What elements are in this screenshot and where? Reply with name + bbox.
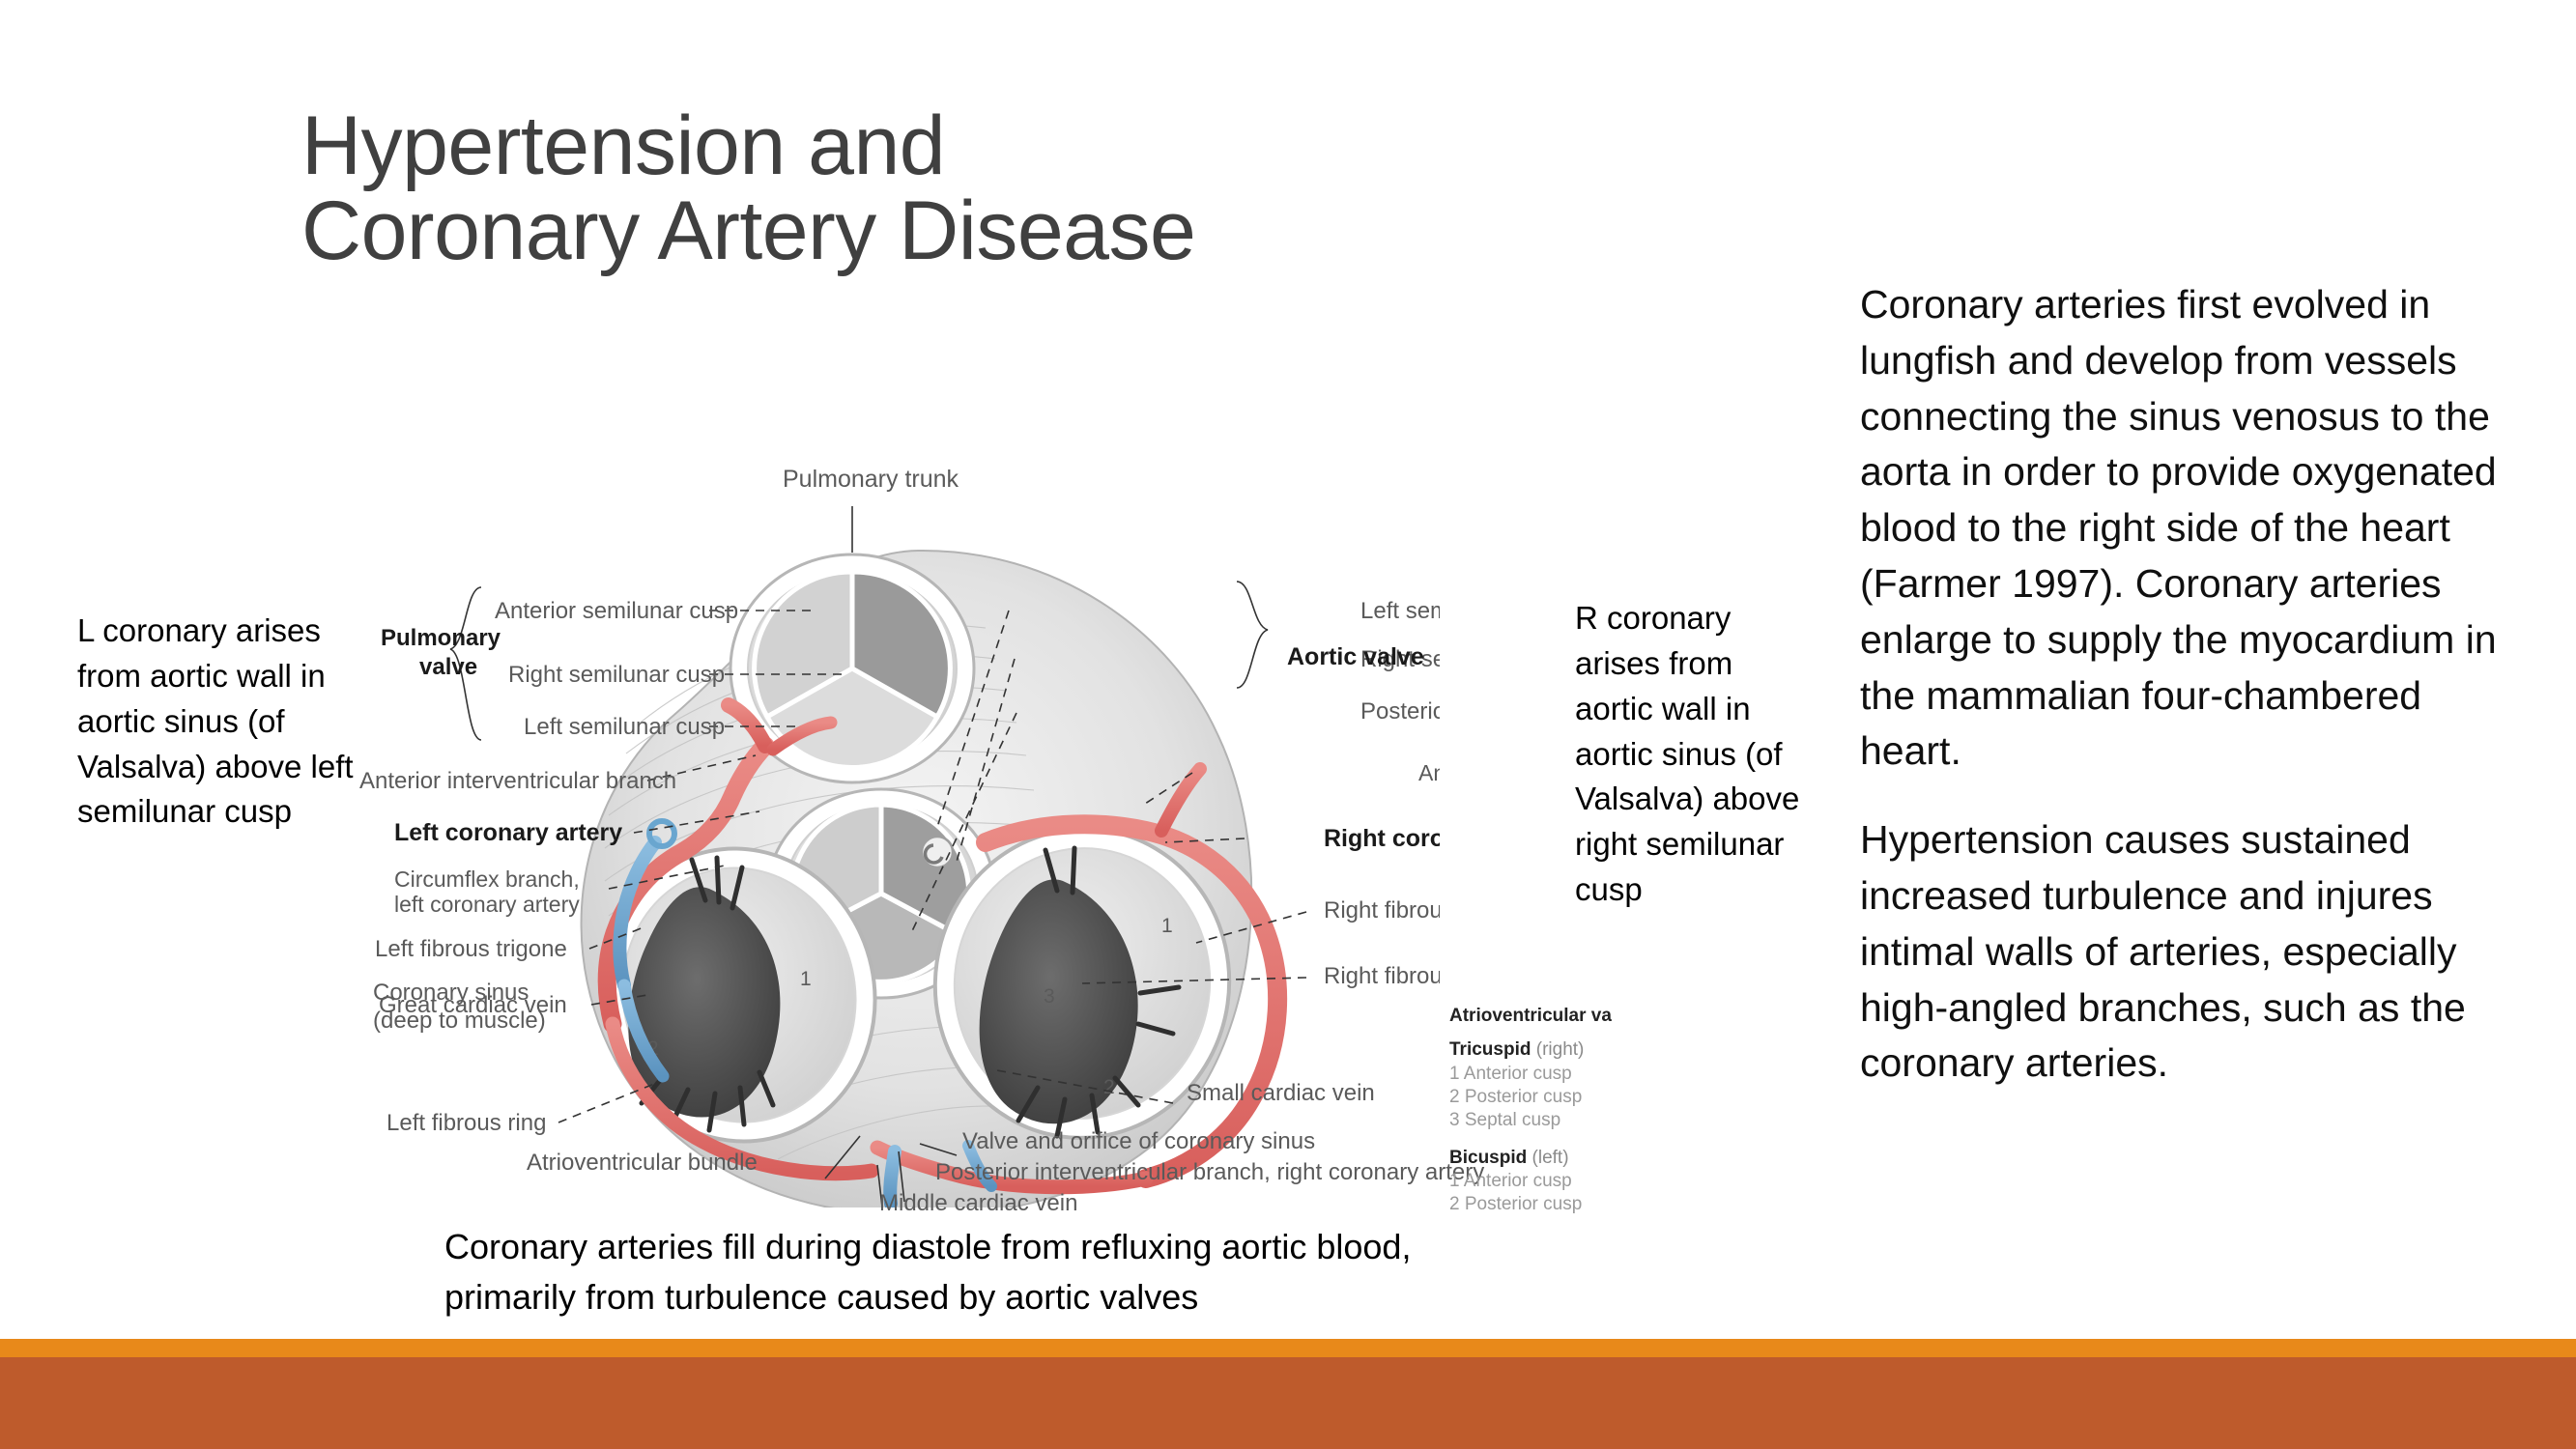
label-av-posterior-cusp: Posterior semilunar cusp bbox=[1360, 698, 1440, 724]
label-small-cardiac-vein: Small cardiac vein bbox=[1187, 1080, 1375, 1107]
legend-group-tricuspid: Tricuspid (right) 1 Anterior cusp 2 Post… bbox=[1449, 1038, 1739, 1132]
label-circumflex-branch-line1: Circumflex branch, bbox=[394, 867, 580, 892]
label-av-left-cusp: Left semilunar cusp bbox=[1360, 598, 1440, 624]
label-pulmonary-valve-line1: Pulmonary bbox=[381, 625, 501, 651]
body-paragraph-2: Hypertension causes sustained increased … bbox=[1860, 812, 2527, 1092]
legend-group-title-bicuspid: Bicuspid (left) bbox=[1449, 1147, 1739, 1170]
label-pv-anterior-cusp: Anterior semilunar cusp bbox=[495, 598, 738, 624]
presentation-slide: Hypertension and Coronary Artery Disease… bbox=[0, 0, 2576, 1449]
atrioventricular-valve-legend: Atrioventricular va Tricuspid (right) 1 … bbox=[1449, 1005, 1739, 1231]
cusp-number-3-right: 3 bbox=[1044, 985, 1055, 1008]
footer-accent-stripe bbox=[0, 1339, 2576, 1357]
legend-item: 2 Posterior cusp bbox=[1449, 1086, 1739, 1109]
legend-group-bicuspid: Bicuspid (left) 1 Anterior cusp 2 Poster… bbox=[1449, 1147, 1739, 1217]
legend-item: 3 Septal cusp bbox=[1449, 1109, 1739, 1132]
legend-header: Atrioventricular va bbox=[1449, 1005, 1739, 1028]
legend-item: 2 Posterior cusp bbox=[1449, 1193, 1739, 1216]
cusp-number-1-right: 1 bbox=[1161, 915, 1173, 937]
label-right-fibrous-trigone: Right fibrous trigone bbox=[1324, 963, 1440, 989]
label-anterior-cardiac-branch: Anterior cardiac branch, right coronary … bbox=[1418, 760, 1440, 785]
body-paragraph-1: Coronary arteries first evolved in lungf… bbox=[1860, 277, 2527, 780]
label-pulmonary-valve-line2: valve bbox=[419, 654, 477, 680]
label-left-fibrous-trigone: Left fibrous trigone bbox=[375, 936, 567, 962]
cusp-number-2-right: 2 bbox=[1103, 1076, 1115, 1098]
label-right-coronary-artery: Right coronary artery bbox=[1324, 825, 1440, 852]
label-middle-cardiac-vein: Middle cardiac vein bbox=[879, 1190, 1077, 1217]
cusp-number-1-left: 1 bbox=[800, 968, 812, 990]
label-pulmonary-trunk: Pulmonary trunk bbox=[783, 466, 959, 493]
legend-item: 1 Anterior cusp bbox=[1449, 1170, 1739, 1193]
label-pv-right-cusp: Right semilunar cusp bbox=[508, 662, 725, 688]
body-text-column: Coronary arteries first evolved in lungf… bbox=[1860, 277, 2527, 1092]
label-valve-orifice-coronary-sinus: Valve and orifice of coronary sinus bbox=[962, 1128, 1315, 1155]
legend-group-title-tricuspid: Tricuspid (right) bbox=[1449, 1038, 1739, 1062]
label-left-fibrous-ring: Left fibrous ring bbox=[386, 1110, 546, 1136]
label-right-fibrous-ring: Right fibrous ring bbox=[1324, 897, 1440, 923]
label-aortic-valve: Aortic valve bbox=[1287, 643, 1424, 670]
label-left-coronary-artery: Left coronary artery bbox=[394, 819, 622, 846]
label-circumflex-branch-line2: left coronary artery bbox=[394, 892, 580, 917]
label-pv-left-cusp: Left semilunar cusp bbox=[524, 714, 725, 740]
legend-item: 1 Anterior cusp bbox=[1449, 1063, 1739, 1086]
page-title: Hypertension and Coronary Artery Disease bbox=[301, 104, 1674, 273]
label-coronary-sinus: Coronary sinus (deep to muscle) bbox=[373, 979, 546, 1036]
label-anterior-interventricular-branch: Anterior interventricular branch bbox=[359, 768, 676, 794]
footer-band bbox=[0, 1357, 2576, 1449]
annotation-right-coronary: R coronary arises from aortic wall in ao… bbox=[1575, 596, 1817, 913]
figure-caption: Coronary arteries fill during diastole f… bbox=[444, 1222, 1420, 1322]
label-atrioventricular-bundle: Atrioventricular bundle bbox=[527, 1150, 758, 1177]
label-posterior-interventricular-branch: Posterior interventricular branch, right… bbox=[935, 1159, 1484, 1186]
